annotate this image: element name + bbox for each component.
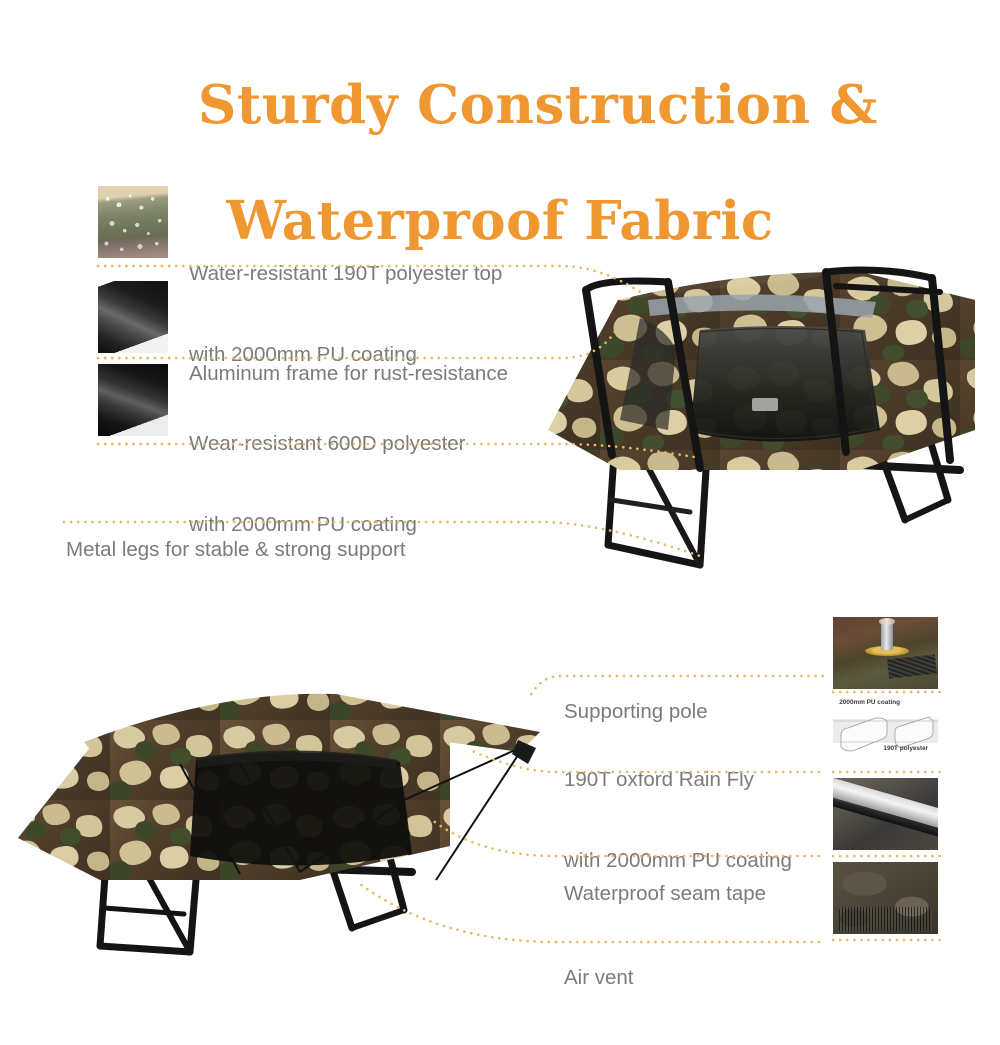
pole-mesh-detail xyxy=(887,655,937,679)
feature-text-line1: Water-resistant 190T polyester top xyxy=(189,260,589,287)
infographic-canvas: Sturdy Construction & Waterproof Fabric … xyxy=(0,0,1000,1000)
feature-text-line1: Air vent xyxy=(564,964,844,991)
diagram-label-polyester: 190T polyester xyxy=(883,745,928,752)
pole-tip-detail xyxy=(879,618,895,624)
thumbnail-supporting-pole xyxy=(833,617,938,689)
thumbnail-aluminum-frame xyxy=(98,281,168,353)
feature-text-line1: Waterproof seam tape xyxy=(564,880,844,907)
feature-text-line1: 190T oxford Rain Fly xyxy=(564,766,854,793)
product-photo-tent-cot-rainfly xyxy=(18,694,540,952)
feature-text-line1: Metal legs for stable & strong support xyxy=(66,536,536,563)
pole-stem-detail xyxy=(881,621,893,650)
diagram-label-pu-coating: 2000mm PU coating xyxy=(839,699,900,706)
feature-label-air-vent: Air vent xyxy=(564,910,844,1045)
thumbnail-water-resistant-top xyxy=(98,186,168,258)
thumbnail-wear-resistant-polyester xyxy=(98,364,168,436)
title-line-1: Sturdy Construction & xyxy=(198,74,878,136)
feature-label-metal-legs: Metal legs for stable & strong support xyxy=(66,482,536,617)
feature-text-line1: Wear-resistant 600D polyester xyxy=(189,430,589,457)
